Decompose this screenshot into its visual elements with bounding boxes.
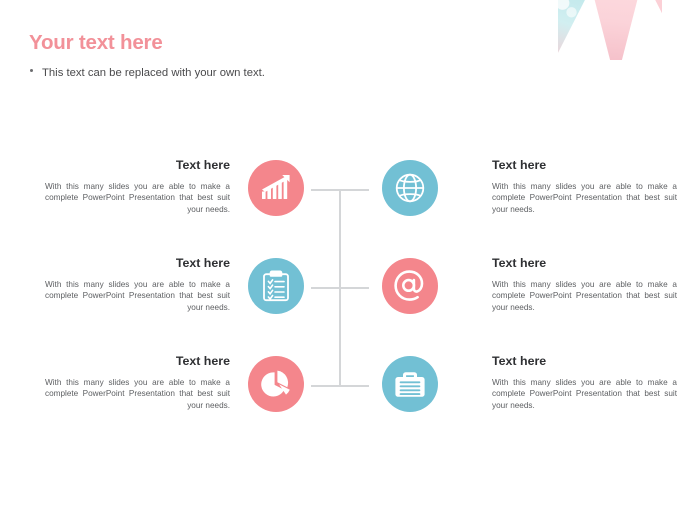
row-1-left-text-block: Text here With this many slides you are … — [45, 158, 230, 215]
row-1-right-heading: Text here — [492, 158, 677, 172]
row-3-left-text-block: Text here With this many slides you are … — [45, 354, 230, 411]
row-2-left-body: With this many slides you are able to ma… — [45, 279, 230, 313]
row-3-right-body: With this many slides you are able to ma… — [492, 377, 677, 411]
v-shape-teal-stripe — [558, 0, 590, 60]
bar-chart-growth-icon — [261, 174, 291, 202]
row-1-left-icon-slot — [248, 160, 304, 216]
row-1-right-body: With this many slides you are able to ma… — [492, 181, 677, 215]
row-3-right-icon-circle[interactable] — [382, 356, 438, 412]
row-2-right-icon-slot — [382, 258, 438, 314]
content-row-3: Text here With this many slides you are … — [0, 354, 680, 416]
row-1-left-icon-circle[interactable] — [248, 160, 304, 216]
row-2-right-text-block: Text here With this many slides you are … — [492, 256, 677, 313]
row-1-right-icon-circle[interactable] — [382, 160, 438, 216]
row-2-right-heading: Text here — [492, 256, 677, 270]
page-title: Your text here — [29, 31, 163, 55]
at-sign-icon — [393, 269, 427, 303]
clipboard-checklist-icon — [262, 270, 290, 302]
v-shape-pink-stripe — [642, 0, 662, 60]
content-row-2: Text here With this many slides you are … — [0, 256, 680, 318]
pie-chart-icon — [260, 369, 292, 399]
subtitle-text: This text can be replaced with your own … — [42, 67, 265, 79]
row-3-right-text-block: Text here With this many slides you are … — [492, 354, 677, 411]
row-2-right-body: With this many slides you are able to ma… — [492, 279, 677, 313]
globe-icon — [394, 172, 426, 204]
row-2-left-text-block: Text here With this many slides you are … — [45, 256, 230, 313]
row-2-left-heading: Text here — [45, 256, 230, 270]
row-3-left-icon-slot — [248, 356, 304, 412]
content-row-1: Text here With this many slides you are … — [0, 158, 680, 220]
row-2-left-icon-slot — [248, 258, 304, 314]
subtitle-bullet-row: This text can be replaced with your own … — [30, 67, 265, 79]
row-3-left-icon-circle[interactable] — [248, 356, 304, 412]
row-2-right-icon-circle[interactable] — [382, 258, 438, 314]
row-3-left-heading: Text here — [45, 354, 230, 368]
row-3-right-heading: Text here — [492, 354, 677, 368]
row-1-right-icon-slot — [382, 160, 438, 216]
row-2-left-icon-circle[interactable] — [248, 258, 304, 314]
v-shape-bokeh-dots — [558, 0, 591, 53]
row-3-left-body: With this many slides you are able to ma… — [45, 377, 230, 411]
v-shape-watermark — [558, 0, 662, 60]
row-1-left-heading: Text here — [45, 158, 230, 172]
row-3-right-icon-slot — [382, 356, 438, 412]
bullet-dot-icon — [30, 69, 33, 72]
row-1-right-text-block: Text here With this many slides you are … — [492, 158, 677, 215]
v-shape-pink-fill — [588, 0, 644, 60]
row-1-left-body: With this many slides you are able to ma… — [45, 181, 230, 215]
briefcase-icon — [394, 370, 426, 399]
